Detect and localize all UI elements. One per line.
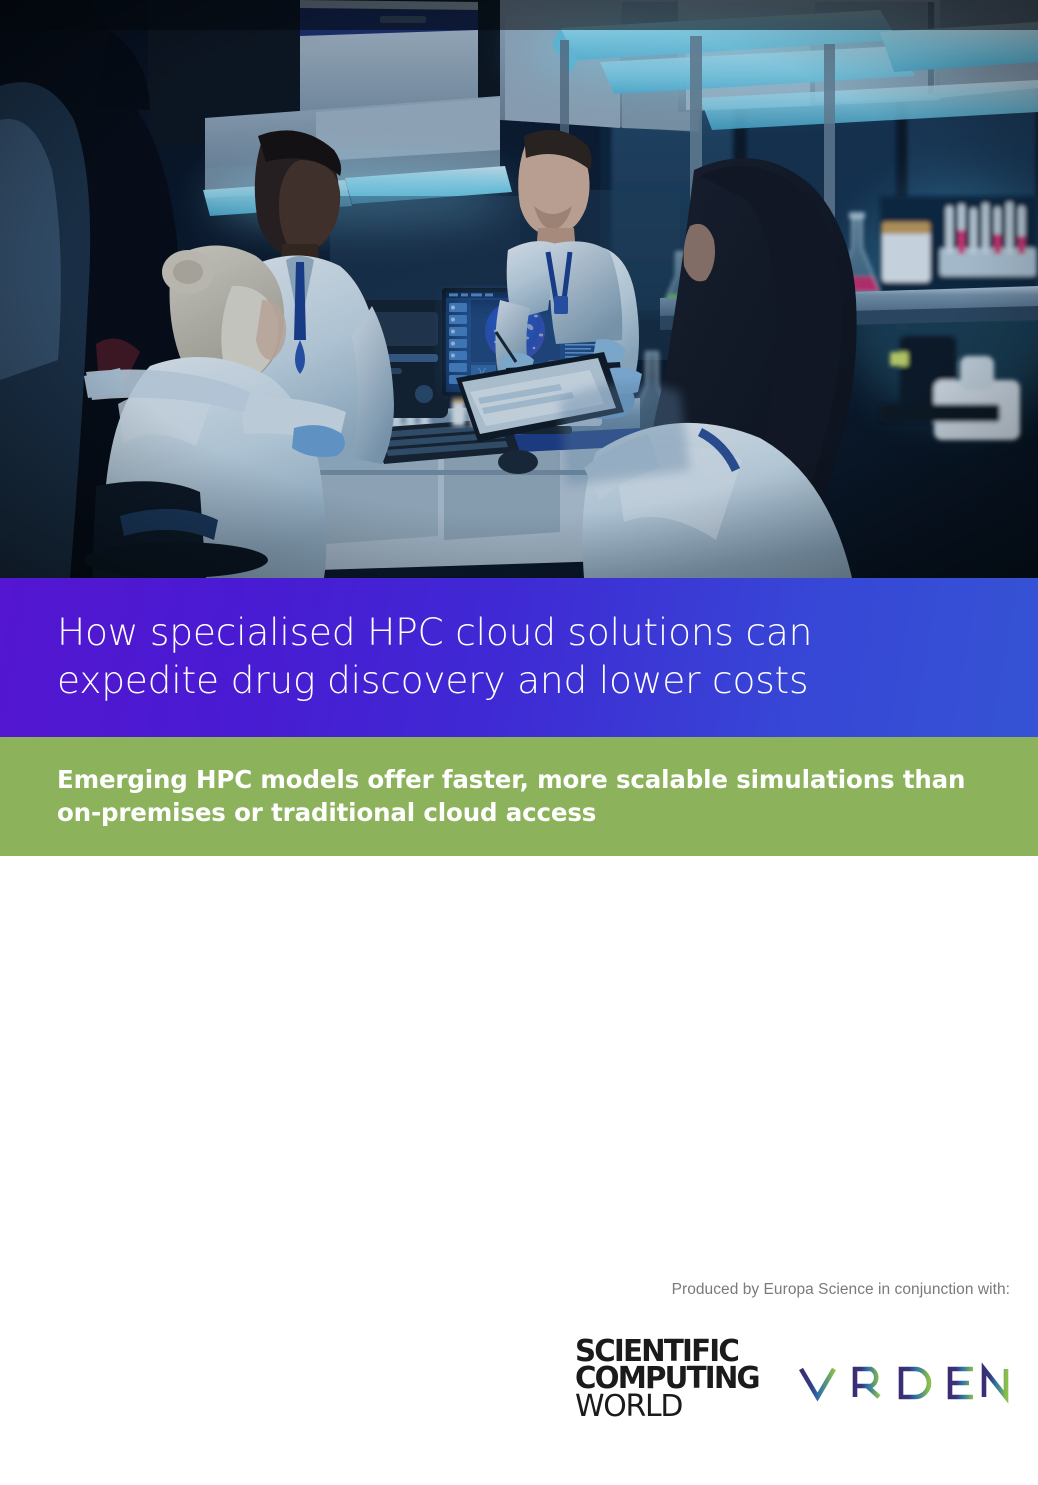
viridien-logo[interactable]: VIRIDIEN xyxy=(797,1360,1013,1406)
scw-logo-line-2: COMPUTING xyxy=(575,1365,767,1392)
page-subtitle: Emerging HPC models offer faster, more s… xyxy=(57,763,968,829)
produced-by-text: Produced by Europa Science in conjunctio… xyxy=(672,1280,1010,1300)
scientific-computing-world-logo[interactable]: SCIENTIFIC COMPUTING WORLD xyxy=(575,1338,775,1421)
viridien-wordmark-text: VIRIDIEN xyxy=(797,1360,866,1364)
footer: Produced by Europa Science in conjunctio… xyxy=(0,1280,1038,1480)
logo-row: SCIENTIFIC COMPUTING WORLD xyxy=(575,1338,1020,1448)
scw-logo-line-3: WORLD xyxy=(575,1392,771,1421)
hero-image: Scientists in a blue-lit laboratory work… xyxy=(0,0,1038,578)
page-title: How specialised HPC cloud solutions can … xyxy=(57,608,978,704)
subtitle-band: Emerging HPC models offer faster, more s… xyxy=(0,737,1038,856)
title-band: How specialised HPC cloud solutions can … xyxy=(0,578,1038,737)
